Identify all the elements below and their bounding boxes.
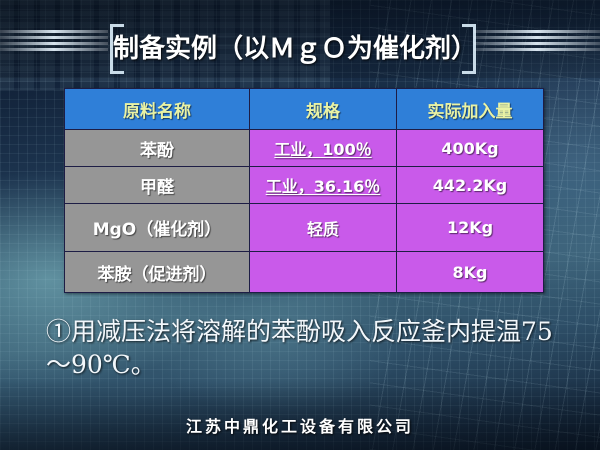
cell-specification: 工业，100％ (274, 140, 371, 159)
table-row: 苯酚 工业，100％ 400Kg (65, 130, 544, 167)
cell-specification: 轻质 (250, 204, 397, 252)
table-row: 苯胺（促进剂） 8Kg (65, 252, 544, 293)
materials-table-container: 原料名称 规格 实际加入量 苯酚 工业，100％ 400Kg 甲醛 工业，36.… (64, 88, 534, 293)
cell-specification: 工业，36.16％ (266, 177, 381, 196)
cell-amount: 8Kg (397, 252, 544, 293)
title-band: 制备实例（以ＭｇＯ为催化剂） (0, 24, 600, 70)
table-row: 甲醛 工业，36.16％ 442.2Kg (65, 167, 544, 204)
column-header-specification: 规格 (250, 89, 397, 130)
cell-amount: 442.2Kg (397, 167, 544, 204)
cell-material-name: 苯胺（促进剂） (65, 252, 250, 293)
table-row: MgO（催化剂） 轻质 12Kg (65, 204, 544, 252)
page-title: 制备实例（以ＭｇＯ为催化剂） (122, 22, 468, 70)
slide-body-text: ①用减压法将溶解的苯酚吸入反应釜内提温75～90℃。 (46, 316, 566, 381)
cell-material-name: 苯酚 (65, 130, 250, 167)
title-decoration-left-lines (0, 30, 108, 62)
column-header-material-name: 原料名称 (65, 89, 250, 130)
presentation-slide: 制备实例（以ＭｇＯ为催化剂） 原料名称 规格 实际加入量 苯酚 工业，100％ … (0, 0, 600, 450)
column-header-actual-amount: 实际加入量 (397, 89, 544, 130)
table-header-row: 原料名称 规格 实际加入量 (65, 89, 544, 130)
cell-material-name: MgO（催化剂） (65, 204, 250, 252)
slide-footer-company: 江苏中鼎化工设备有限公司 (0, 413, 600, 437)
cell-material-name: 甲醛 (65, 167, 250, 204)
cell-specification (250, 252, 397, 293)
cell-amount: 400Kg (397, 130, 544, 167)
materials-table: 原料名称 规格 实际加入量 苯酚 工业，100％ 400Kg 甲醛 工业，36.… (64, 88, 544, 293)
title-decoration-right-lines (474, 30, 600, 62)
cell-amount: 12Kg (397, 204, 544, 252)
